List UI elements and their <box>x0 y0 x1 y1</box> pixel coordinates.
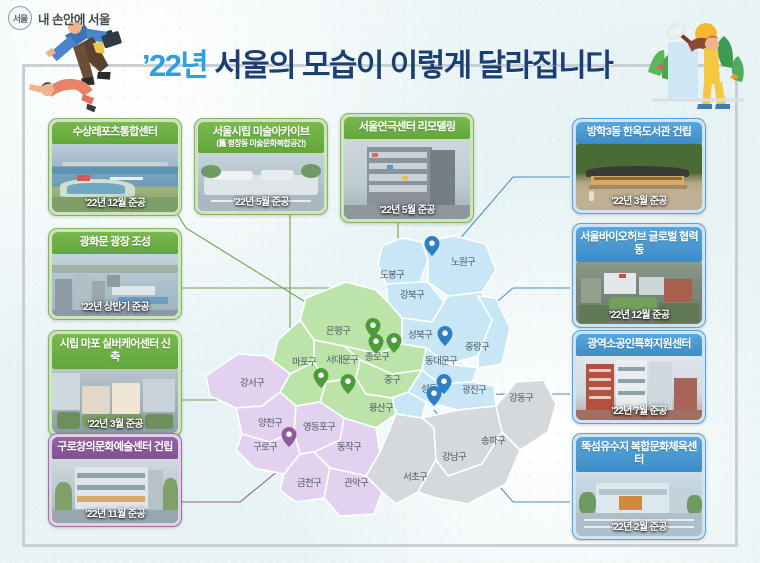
card-top-1[interactable]: 서울시립 미술아카이브 (舊 평창동 미술문화복합공간) ’22년 5월 준공 <box>194 118 328 215</box>
card-top-0[interactable]: 수상레포츠통합센터 ’22년 12월 준공 <box>48 118 182 216</box>
district-label-seongbuk: 성북구 <box>408 327 432 341</box>
card-title: 수상레포츠통합센터 <box>52 122 178 144</box>
card-right-0[interactable]: 방학3동 한옥도서관 건립 ’22년 3월 준공 <box>572 118 706 214</box>
district-label-yeongdeungpo: 영등포구 <box>303 419 335 433</box>
card-date: ’22년 11월 준공 <box>52 505 178 520</box>
card-title: 시립 마포 실버케어센터 신축 <box>52 334 178 369</box>
card-date: ’22년 7월 준공 <box>576 402 702 417</box>
card-title: 광역소공인특화지원센터 <box>576 334 702 356</box>
district-label-geumcheon: 금천구 <box>297 475 321 489</box>
district-label-songpa: 송파구 <box>481 433 505 447</box>
brand-logo[interactable]: 서울 내 손안에 서울 <box>8 6 110 30</box>
page-title-year: ’22년 <box>142 48 207 83</box>
card-date: ’22년 12월 준공 <box>52 194 178 209</box>
card-date: ’22년 3월 준공 <box>52 415 178 430</box>
card-date: ’22년 5월 준공 <box>344 201 470 216</box>
district-label-eunpyeong: 은평구 <box>326 323 350 337</box>
map-pin-blue[interactable] <box>438 326 453 346</box>
district-label-dobong: 도봉구 <box>380 267 404 281</box>
map-pin-purple[interactable] <box>282 427 297 447</box>
district-label-gwanak: 관악구 <box>344 475 368 489</box>
district-label-jungnang: 중랑구 <box>465 339 489 353</box>
district-label-jung: 중구 <box>384 372 400 386</box>
map-pin-green[interactable] <box>369 334 384 354</box>
brand-logo-text: 내 손안에 서울 <box>38 9 110 28</box>
card-left-1[interactable]: 시립 마포 실버케어센터 신축 ’22년 3월 준공 <box>48 330 182 437</box>
map-pin-green[interactable] <box>314 368 329 388</box>
district-label-seocho: 서초구 <box>403 469 427 483</box>
card-photo: ’22년 12월 준공 <box>52 144 178 212</box>
card-photo: ’22년 7월 준공 <box>576 356 702 420</box>
card-title: 방학3동 한옥도서관 건립 <box>576 122 702 144</box>
card-date: ’22년 상반기 준공 <box>52 298 178 313</box>
district-label-gangdong: 강동구 <box>509 390 533 404</box>
card-title: 구로창의문화예술센터 건립 <box>52 437 178 459</box>
map-pin-blue[interactable] <box>425 236 440 256</box>
district-label-yongsan: 용산구 <box>369 400 393 414</box>
card-date: ’22년 2월 준공 <box>576 518 702 533</box>
card-date: ’22년 5월 준공 <box>198 193 324 208</box>
card-photo: ’22년 5월 준공 <box>344 139 470 219</box>
card-right-2[interactable]: 광역소공인특화지원센터 ’22년 7월 준공 <box>572 330 706 424</box>
district-label-gangseo: 강서구 <box>240 375 264 389</box>
card-title: 서울시립 미술아카이브 (舊 평창동 미술문화복합공간) <box>198 122 324 153</box>
card-photo: ’22년 12월 준공 <box>576 262 702 324</box>
card-title: 서울바이오허브 글로벌 협력동 <box>576 227 702 262</box>
map-pin-green[interactable] <box>341 374 356 394</box>
card-right-3[interactable]: 뚝섬유수지 복합문화체육센터 ’22년 2월 준공 <box>572 433 706 540</box>
card-right-1[interactable]: 서울바이오허브 글로벌 협력동 ’22년 12월 준공 <box>572 223 706 328</box>
card-photo: ’22년 3월 준공 <box>52 369 178 433</box>
district-label-gangnam: 강남구 <box>442 449 466 463</box>
district-label-yangcheon: 양천구 <box>258 415 282 429</box>
card-left-0[interactable]: 광화문 광장 조성 ’22년 상반기 준공 <box>48 228 182 320</box>
card-photo: ’22년 11월 준공 <box>52 459 178 523</box>
card-left-2[interactable]: 구로창의문화예술센터 건립 ’22년 11월 준공 <box>48 433 182 527</box>
seoul-circle-logo-icon: 서울 <box>8 6 32 30</box>
district-label-seodaemun: 서대문구 <box>326 352 358 366</box>
seoul-district-map[interactable]: 도봉구 노원구 강북구 성북구 중랑구 동대문구 은평구 서대문구 종로구 마포… <box>196 236 576 526</box>
district-label-dongjak: 동작구 <box>337 439 361 453</box>
card-title: 서울연극센터 리모델링 <box>344 117 470 139</box>
district-label-gwangjin: 광진구 <box>462 382 486 396</box>
district-label-dongdaemun: 동대문구 <box>425 353 457 367</box>
card-top-2[interactable]: 서울연극센터 리모델링 ’22년 5월 준공 <box>340 113 474 223</box>
card-photo: ’22년 3월 준공 <box>576 144 702 210</box>
district-label-gangbuk: 강북구 <box>400 287 424 301</box>
card-photo: ’22년 2월 준공 <box>576 472 702 536</box>
district-label-guro: 구로구 <box>253 439 277 453</box>
card-date: ’22년 3월 준공 <box>576 192 702 207</box>
page-title: ’22년 서울의 모습이 이렇게 달라집니다 <box>142 40 612 85</box>
map-pin-blue[interactable] <box>427 386 442 406</box>
page-title-rest: 서울의 모습이 이렇게 달라집니다 <box>214 48 612 83</box>
district-label-mapo: 마포구 <box>292 354 316 368</box>
district-label-nowon: 노원구 <box>451 254 475 268</box>
map-pin-green[interactable] <box>387 333 402 353</box>
card-subtitle: (舊 평창동 미술문화복합공간) <box>202 139 320 148</box>
card-photo: ’22년 5월 준공 <box>198 153 324 211</box>
infographic-poster: 서울 내 손안에 서울 ’22년 서울의 모습이 이렇게 달라집니다 <box>0 0 760 563</box>
card-title: 뚝섬유수지 복합문화체육센터 <box>576 437 702 472</box>
card-photo: ’22년 상반기 준공 <box>52 254 178 316</box>
card-title: 광화문 광장 조성 <box>52 232 178 254</box>
card-date: ’22년 12월 준공 <box>576 306 702 321</box>
